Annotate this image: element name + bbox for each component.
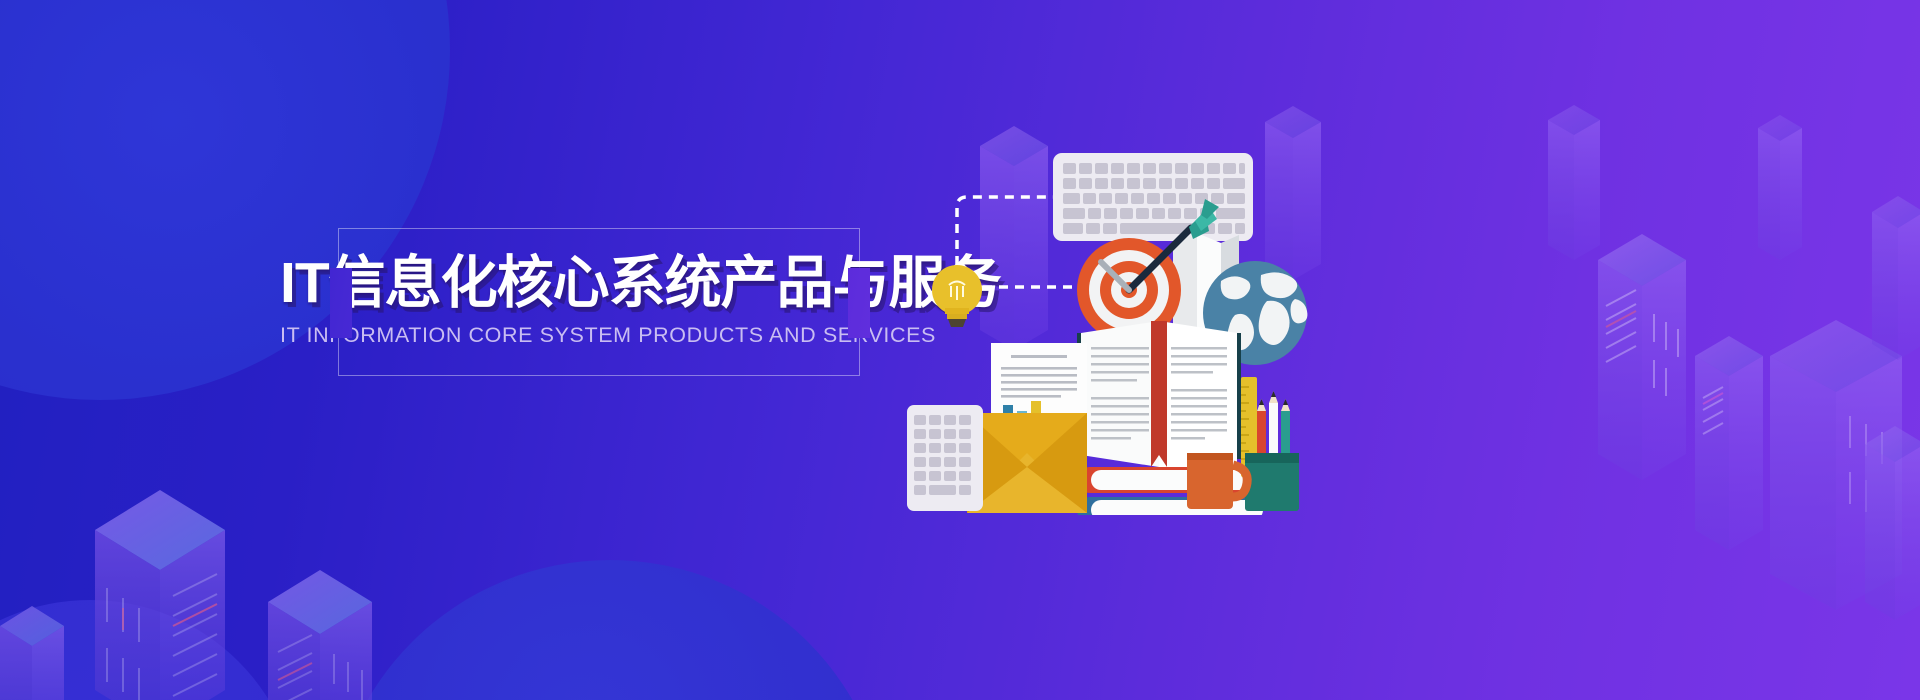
page-title: IT信息化核心系统产品与服务 — [280, 253, 920, 313]
connector-dashed-line — [957, 197, 1053, 265]
frame-gap-left-mask — [330, 268, 352, 338]
frame-gap-right-mask — [848, 268, 870, 338]
envelope-icon — [967, 413, 1087, 513]
illustration-group — [905, 115, 1325, 515]
keyboard-top-icon — [1053, 153, 1253, 241]
lightbulb-icon — [932, 265, 982, 327]
banner-stage: IT信息化核心系统产品与服务 IT INFORMATION CORE SYSTE… — [0, 0, 1920, 700]
keyboard-bottom-icon — [907, 405, 983, 511]
open-book-icon — [1077, 321, 1241, 467]
headline-block: IT信息化核心系统产品与服务 IT INFORMATION CORE SYSTE… — [280, 253, 920, 348]
book-stack-icon — [1077, 467, 1263, 515]
page-subtitle: IT INFORMATION CORE SYSTEM PRODUCTS AND … — [280, 323, 920, 348]
